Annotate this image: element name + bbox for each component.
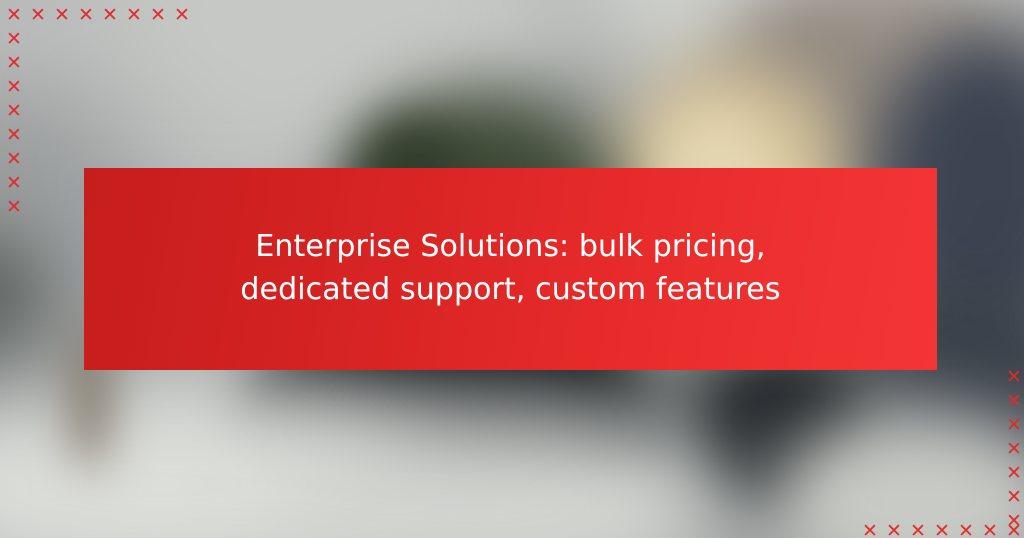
x-cross-mark: ✕ bbox=[102, 6, 118, 25]
x-cross-mark: ✕ bbox=[982, 522, 998, 538]
x-cross-mark: ✕ bbox=[6, 54, 22, 73]
x-cross-mark: ✕ bbox=[6, 6, 22, 25]
x-cross-mark: ✕ bbox=[30, 6, 46, 25]
x-cross-mark: ✕ bbox=[1006, 488, 1022, 507]
x-cross-mark: ✕ bbox=[6, 198, 22, 217]
x-cross-mark: ✕ bbox=[910, 522, 926, 538]
x-cross-mark: ✕ bbox=[1006, 522, 1022, 538]
x-cross-mark: ✕ bbox=[78, 6, 94, 25]
x-cross-mark: ✕ bbox=[1006, 416, 1022, 435]
x-cross-mark: ✕ bbox=[1006, 464, 1022, 483]
x-cross-mark: ✕ bbox=[126, 6, 142, 25]
x-cross-mark: ✕ bbox=[1006, 392, 1022, 411]
x-cross-mark: ✕ bbox=[6, 150, 22, 169]
x-cross-mark: ✕ bbox=[934, 522, 950, 538]
x-cross-mark: ✕ bbox=[174, 6, 190, 25]
x-cross-mark: ✕ bbox=[54, 6, 70, 25]
headline-text: Enterprise Solutions: bulk pricing, dedi… bbox=[181, 226, 841, 311]
headline-banner: Enterprise Solutions: bulk pricing, dedi… bbox=[84, 168, 937, 370]
x-cross-mark: ✕ bbox=[1006, 440, 1022, 459]
x-cross-mark: ✕ bbox=[6, 126, 22, 145]
x-cross-mark: ✕ bbox=[6, 174, 22, 193]
x-cross-mark: ✕ bbox=[1006, 368, 1022, 387]
x-cross-mark: ✕ bbox=[862, 522, 878, 538]
x-cross-mark: ✕ bbox=[6, 102, 22, 121]
x-cross-mark: ✕ bbox=[6, 78, 22, 97]
banner-canvas: ✕✕✕✕✕✕✕✕✕✕✕✕✕✕✕✕✕✕✕✕✕✕✕✕✕✕✕✕✕✕ Enterpris… bbox=[0, 0, 1024, 538]
x-cross-mark: ✕ bbox=[886, 522, 902, 538]
x-cross-mark: ✕ bbox=[958, 522, 974, 538]
x-cross-mark: ✕ bbox=[6, 30, 22, 49]
x-cross-mark: ✕ bbox=[150, 6, 166, 25]
